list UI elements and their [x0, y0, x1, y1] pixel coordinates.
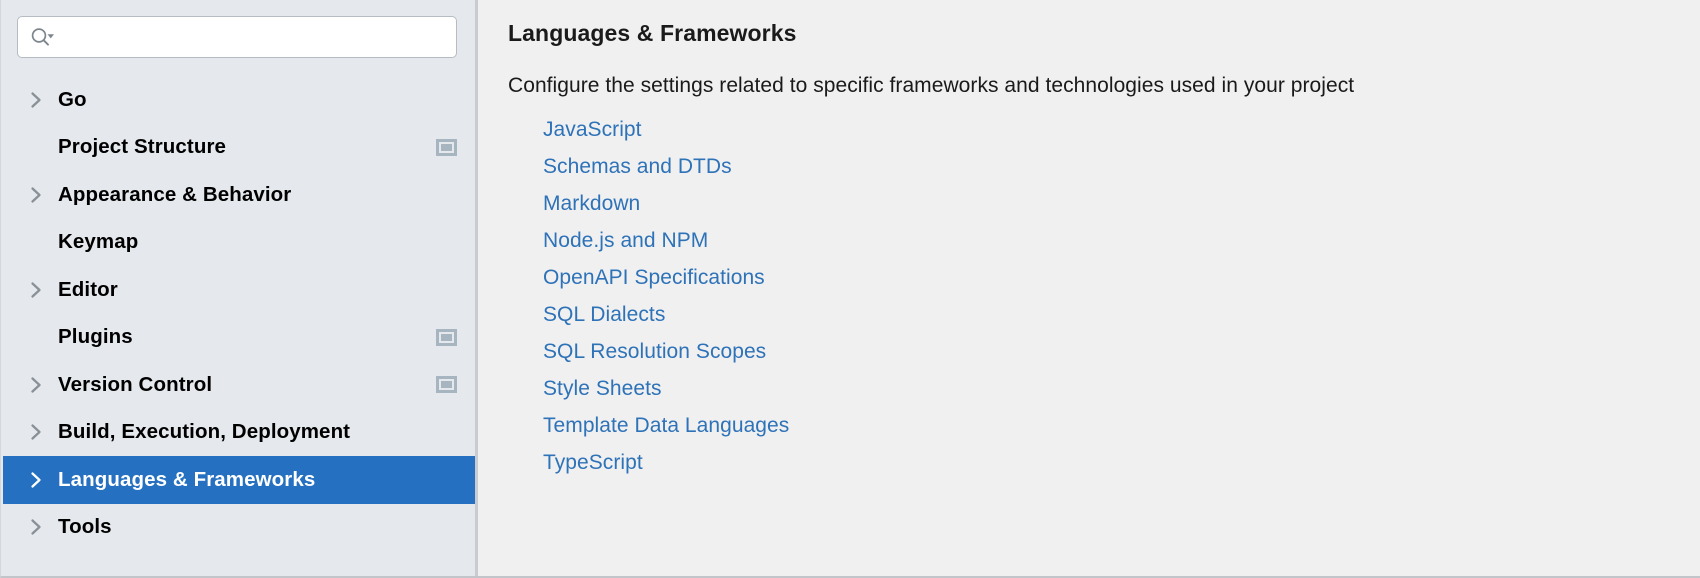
panel-window-icon[interactable]	[436, 139, 457, 156]
sidebar-item-languages-frameworks[interactable]: Languages & Frameworks	[3, 456, 475, 504]
content-panel: Languages & Frameworks Configure the set…	[478, 0, 1700, 576]
sidebar-item-label: Go	[58, 88, 87, 112]
search-container	[1, 0, 475, 58]
chevron-right-icon[interactable]	[25, 469, 47, 491]
chevron-right-icon[interactable]	[25, 184, 47, 206]
page-title: Languages & Frameworks	[508, 14, 1700, 47]
panel-window-icon[interactable]	[436, 376, 457, 393]
sidebar-item-label: Languages & Frameworks	[58, 468, 315, 492]
sidebar-item-label: Appearance & Behavior	[58, 183, 291, 207]
sidebar-item-appearance-behavior[interactable]: Appearance & Behavior	[3, 171, 475, 219]
search-box[interactable]	[17, 16, 457, 58]
sidebar-item-build-execution-deployment[interactable]: Build, Execution, Deployment	[3, 409, 475, 457]
sidebar-item-tools[interactable]: Tools	[3, 504, 475, 552]
sidebar-item-version-control[interactable]: Version Control	[3, 361, 475, 409]
page-description: Configure the settings related to specif…	[508, 74, 1700, 98]
sidebar-item-label: Plugins	[58, 325, 133, 349]
search-input[interactable]	[56, 17, 456, 57]
sidebar-item-project-structure[interactable]: Project Structure	[3, 124, 475, 172]
content-link-schemas-and-dtds[interactable]: Schemas and DTDs	[543, 148, 732, 185]
content-link-sql-dialects[interactable]: SQL Dialects	[543, 296, 665, 333]
sidebar-item-label: Build, Execution, Deployment	[58, 420, 350, 444]
settings-dialog: GoProject StructureAppearance & Behavior…	[0, 0, 1700, 578]
content-link-style-sheets[interactable]: Style Sheets	[543, 370, 662, 407]
sidebar-item-label: Project Structure	[58, 135, 226, 159]
chevron-right-icon[interactable]	[25, 516, 47, 538]
sidebar-item-plugins[interactable]: Plugins	[3, 314, 475, 362]
content-link-markdown[interactable]: Markdown	[543, 185, 640, 222]
sidebar-item-editor[interactable]: Editor	[3, 266, 475, 314]
chevron-right-icon[interactable]	[25, 421, 47, 443]
content-link-sql-resolution-scopes[interactable]: SQL Resolution Scopes	[543, 333, 766, 370]
search-icon[interactable]	[30, 26, 56, 48]
sidebar-item-label: Version Control	[58, 373, 212, 397]
chevron-right-icon[interactable]	[25, 89, 47, 111]
content-link-template-data-languages[interactable]: Template Data Languages	[543, 407, 789, 444]
sidebar-item-keymap[interactable]: Keymap	[3, 219, 475, 267]
content-link-typescript[interactable]: TypeScript	[543, 444, 643, 481]
settings-sidebar: GoProject StructureAppearance & Behavior…	[1, 0, 478, 576]
sidebar-item-go[interactable]: Go	[3, 76, 475, 124]
content-link-openapi-specifications[interactable]: OpenAPI Specifications	[543, 259, 765, 296]
panel-window-icon[interactable]	[436, 329, 457, 346]
settings-link-list: JavaScriptSchemas and DTDsMarkdownNode.j…	[543, 111, 1700, 481]
sidebar-item-label: Tools	[58, 515, 112, 539]
sidebar-item-label: Editor	[58, 278, 118, 302]
content-link-node-js-and-npm[interactable]: Node.js and NPM	[543, 222, 708, 259]
chevron-right-icon[interactable]	[25, 374, 47, 396]
chevron-right-icon[interactable]	[25, 279, 47, 301]
sidebar-item-label: Keymap	[58, 230, 138, 254]
content-link-javascript[interactable]: JavaScript	[543, 111, 642, 148]
settings-tree: GoProject StructureAppearance & Behavior…	[1, 76, 475, 551]
